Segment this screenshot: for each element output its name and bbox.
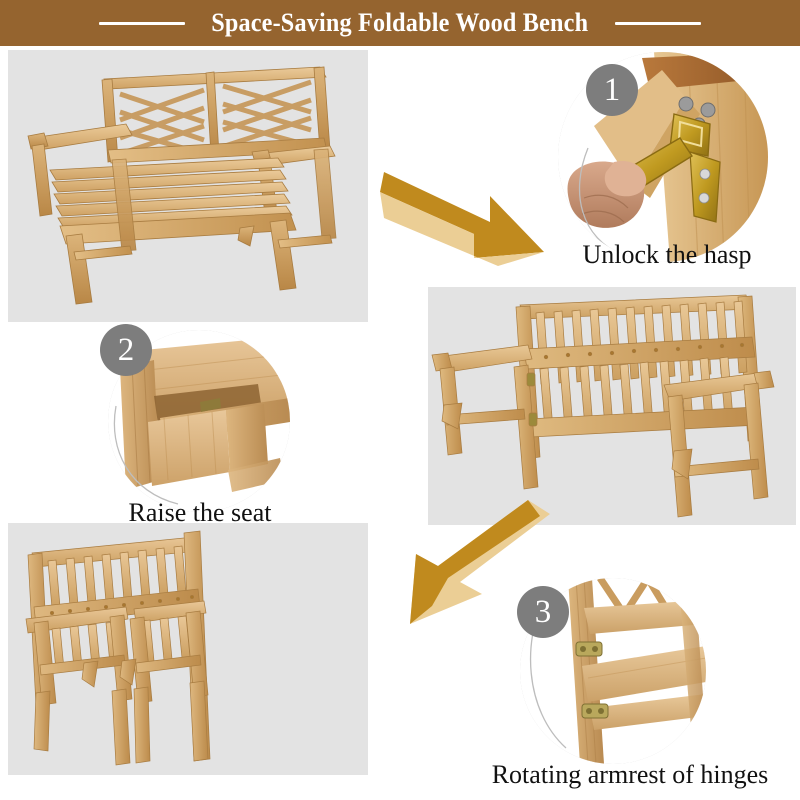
step-badge-1: 1 (586, 64, 638, 116)
step-badge-2: 2 (100, 324, 152, 376)
banner-rule-right (615, 22, 701, 25)
bench-folded-illustration (8, 523, 368, 775)
title-banner: Space-Saving Foldable Wood Bench (0, 0, 800, 46)
infographic-root: Space-Saving Foldable Wood Bench (0, 0, 800, 800)
caption-step-3: Rotating armrest of hinges (470, 760, 790, 790)
step-badge-3: 3 (517, 586, 569, 638)
caption-step-1: Unlock the hasp (553, 240, 781, 270)
banner-rule-left (99, 22, 185, 25)
bench-seat-up-illustration (428, 287, 796, 525)
page-title: Space-Saving Foldable Wood Bench (211, 8, 588, 38)
bench-open-illustration (8, 50, 368, 322)
panel-bench-folded (8, 523, 368, 775)
panel-bench-seat-up (428, 287, 796, 525)
panel-bench-open (8, 50, 368, 322)
arrow-step-1 (378, 148, 550, 270)
